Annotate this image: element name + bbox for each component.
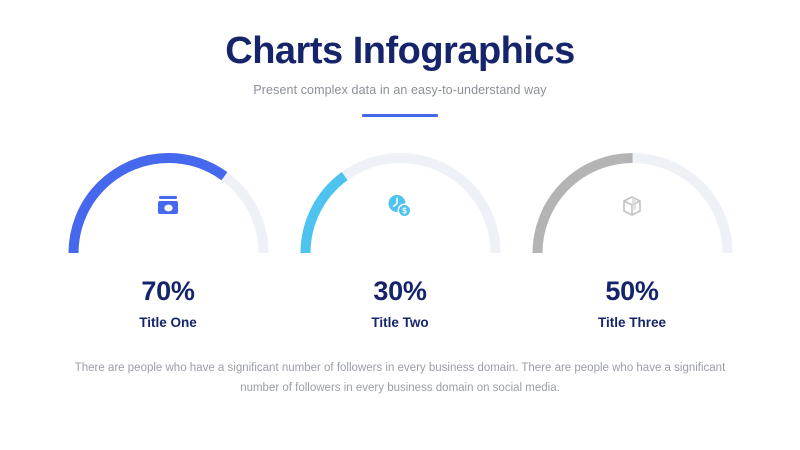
page-title: Charts Infographics bbox=[0, 30, 800, 74]
infographic-slide: Charts Infographics Present complex data… bbox=[0, 0, 800, 450]
footer-description: There are people who have a significant … bbox=[60, 358, 740, 398]
gauge-value-3: 50% bbox=[605, 276, 658, 307]
gauge-chart-2: $ bbox=[298, 148, 503, 258]
gauge-label-3: Title Three bbox=[598, 315, 666, 330]
svg-text:$: $ bbox=[402, 206, 407, 215]
gauge-chart-1 bbox=[66, 148, 271, 258]
credit-card-icon bbox=[66, 192, 271, 218]
accent-underline bbox=[362, 114, 438, 117]
clock-dollar-icon: $ bbox=[298, 192, 503, 220]
gauge-value-1: 70% bbox=[141, 276, 194, 307]
gauge-value-2: 30% bbox=[373, 276, 426, 307]
gauge-card-1[interactable]: 70% Title One bbox=[52, 148, 284, 330]
gauge-card-2[interactable]: $ 30% Title Two bbox=[284, 148, 516, 330]
gauge-label-1: Title One bbox=[139, 315, 197, 330]
header: Charts Infographics Present complex data… bbox=[0, 30, 800, 117]
gauge-chart-3 bbox=[530, 148, 735, 258]
page-subtitle: Present complex data in an easy-to-under… bbox=[0, 83, 800, 97]
package-box-icon bbox=[530, 192, 735, 220]
gauge-label-2: Title Two bbox=[371, 315, 428, 330]
gauge-card-3[interactable]: 50% Title Three bbox=[516, 148, 748, 330]
gauge-group: 70% Title One $ 30% T bbox=[0, 148, 800, 330]
